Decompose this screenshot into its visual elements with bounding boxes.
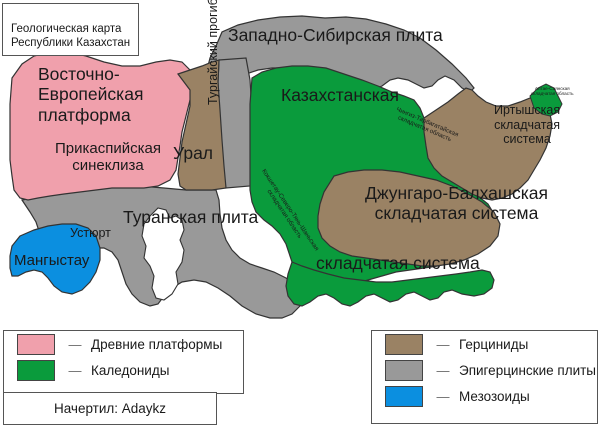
legend-right: — Герциниды — Эпигерцинские плиты — Мезо… — [371, 330, 598, 424]
legend-dash: — — [65, 363, 85, 378]
legend-dash: — — [65, 337, 85, 352]
legend-item-ancient-platforms[interactable]: — Древние платформы — [4, 331, 243, 357]
legend-dash: — — [433, 337, 453, 352]
swatch-mesozoids — [385, 386, 423, 407]
legend-dash: — — [433, 389, 453, 404]
map-title-box: Геологическая карта Республики Казахстан — [2, 3, 139, 56]
map-title-text: Геологическая карта Республики Казахстан — [11, 23, 130, 49]
region-east-european-platform — [10, 52, 192, 200]
author-text: Начертил: Adaykz — [54, 401, 166, 416]
legend-label-epihercynian-plates: Эпигерцинские плиты — [459, 363, 596, 378]
region-mangystau — [10, 224, 100, 294]
legend-label-caledonides: Каледониды — [91, 363, 169, 378]
legend-item-caledonides[interactable]: — Каледониды — [4, 357, 243, 383]
legend-item-mesozoids[interactable]: — Мезозоиды — [372, 383, 597, 409]
legend-label-mesozoids: Мезозоиды — [459, 389, 530, 404]
legend-item-hercynides[interactable]: — Герциниды — [372, 331, 597, 357]
legend-left: — Древние платформы — Каледониды — [3, 330, 244, 394]
legend-label-hercynides: Герциниды — [459, 337, 528, 352]
swatch-ancient-platforms — [17, 334, 55, 355]
legend-item-epihercynian-plates[interactable]: — Эпигерцинские плиты — [372, 357, 597, 383]
author-box: Начертил: Adaykz — [3, 392, 217, 425]
legend-label-ancient-platforms: Древние платформы — [91, 337, 222, 352]
swatch-epihercynian-plates — [385, 360, 423, 381]
geological-map: Геологическая карта Республики Казахстан… — [0, 0, 600, 429]
swatch-caledonides — [17, 360, 55, 381]
swatch-hercynides — [385, 334, 423, 355]
legend-dash: — — [433, 363, 453, 378]
